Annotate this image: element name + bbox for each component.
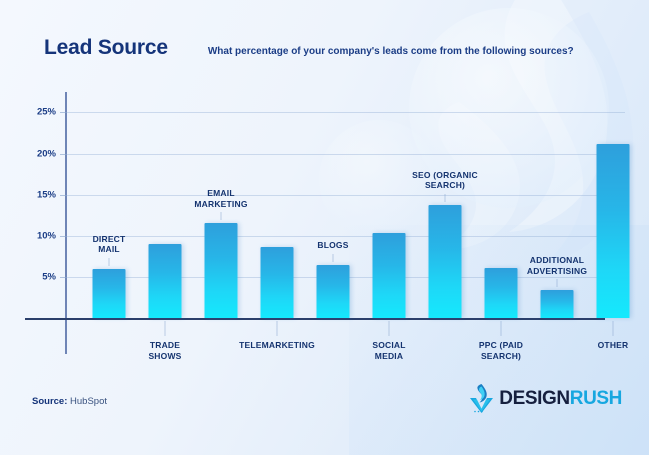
category-label: EMAIL MARKETING [194, 188, 247, 209]
bar-slot [145, 96, 185, 318]
category-label: SOCIAL MEDIA [372, 340, 405, 361]
bar[interactable] [597, 144, 630, 318]
bar-slot [313, 96, 353, 318]
plot-area: 5%10%15%20%25% [65, 96, 625, 318]
source-label: Source: [32, 396, 67, 407]
leader-line [557, 279, 558, 287]
bar[interactable] [93, 269, 126, 318]
leader-line [333, 254, 334, 262]
bar[interactable] [261, 247, 294, 318]
chart-header: Lead Source What percentage of your comp… [44, 36, 619, 60]
category-label: DIRECT MAIL [93, 234, 126, 255]
bar-slot [257, 96, 297, 318]
bar-slot [481, 96, 521, 318]
source-note: Source: HubSpot [32, 396, 107, 407]
leader-line [445, 194, 446, 202]
chart-subtitle: What percentage of your company's leads … [208, 46, 574, 57]
flame-v-icon [469, 384, 494, 413]
y-tick-label: 10% [37, 230, 56, 241]
source-value: HubSpot [70, 396, 107, 407]
category-label: ADDITIONAL ADVERTISING [527, 255, 587, 276]
x-axis-line [25, 318, 605, 320]
bar-slot [89, 96, 129, 318]
bar[interactable] [541, 290, 574, 318]
bar[interactable] [317, 265, 350, 318]
bar-slot [593, 96, 633, 318]
category-label: TRADE SHOWS [148, 340, 181, 361]
leader-line [501, 321, 502, 336]
bar[interactable] [149, 244, 182, 318]
page-title: Lead Source [44, 36, 168, 60]
leader-line [277, 321, 278, 336]
y-tick-label: 5% [42, 271, 56, 282]
bar-slot [369, 96, 409, 318]
lead-source-infographic: Lead Source What percentage of your comp… [0, 0, 649, 455]
category-label: TELEMARKETING [239, 340, 315, 351]
category-label: OTHER [598, 340, 629, 351]
category-label: BLOGS [317, 240, 348, 251]
leader-line [613, 321, 614, 336]
designrush-logo: DESIGNRUSH [469, 384, 622, 413]
bar[interactable] [373, 233, 406, 318]
bar-series [65, 96, 625, 318]
category-label: SEO (ORGANIC SEARCH) [412, 170, 478, 191]
leader-line [109, 258, 110, 266]
logo-wordmark: DESIGNRUSH [499, 388, 622, 410]
bar[interactable] [429, 205, 462, 318]
y-tick-label: 20% [37, 148, 56, 159]
bar-slot [425, 96, 465, 318]
leader-line [165, 321, 166, 336]
logo-text-rush: RUSH [570, 388, 622, 409]
category-label: PPC (PAID SEARCH) [479, 340, 523, 361]
logo-text-design: DESIGN [499, 388, 569, 409]
leader-line [221, 212, 222, 220]
y-tick-label: 15% [37, 189, 56, 200]
leader-line [389, 321, 390, 336]
y-tick-label: 25% [37, 107, 56, 118]
bar[interactable] [485, 268, 518, 318]
bar[interactable] [205, 223, 238, 318]
